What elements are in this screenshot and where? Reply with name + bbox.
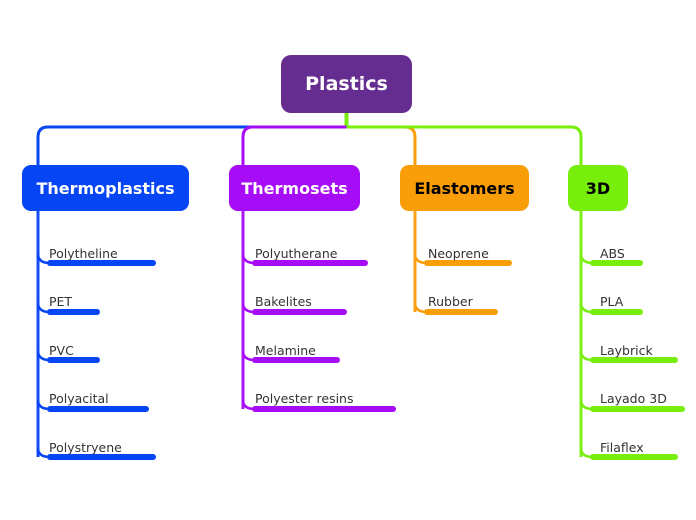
branch-node[interactable] — [229, 165, 360, 211]
branch-connector — [243, 127, 347, 165]
branch-connector — [38, 127, 347, 165]
branch-node[interactable] — [568, 165, 628, 211]
node-layer — [22, 55, 628, 211]
root-node[interactable] — [281, 55, 412, 113]
mindmap-canvas — [0, 0, 696, 520]
branch-connector — [347, 127, 416, 165]
branch-connector — [347, 127, 582, 165]
branch-node[interactable] — [22, 165, 189, 211]
connector-layer — [38, 113, 682, 457]
branch-node[interactable] — [400, 165, 529, 211]
